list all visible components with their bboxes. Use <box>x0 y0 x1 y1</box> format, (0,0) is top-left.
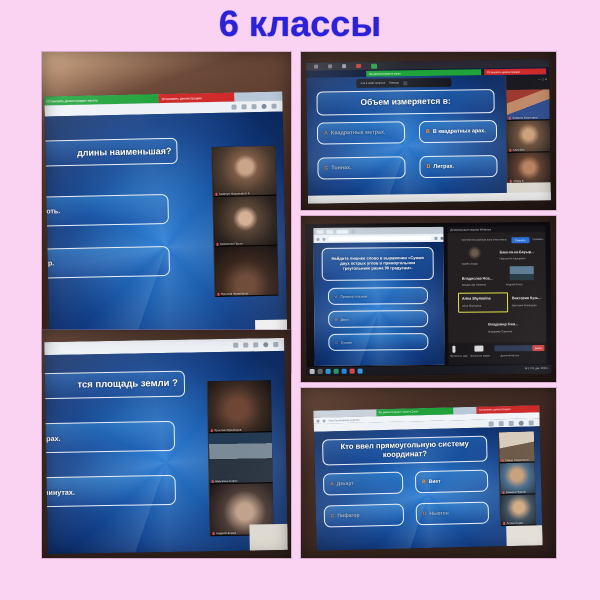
leave-meeting-button[interactable]: Выйти <box>532 345 544 351</box>
profile-icon[interactable] <box>440 236 443 239</box>
quiz-answer-b[interactable]: B В квадратных арах. <box>419 120 497 143</box>
quiz-question: тся площадь земли ? <box>44 371 185 400</box>
screen-corner-panel <box>249 524 287 551</box>
microphone-icon <box>502 459 504 462</box>
share-icon[interactable] <box>233 343 238 348</box>
star-icon[interactable] <box>499 421 504 426</box>
browser-tab[interactable] <box>316 229 323 233</box>
photo-top-left: Остановить демонстрацию экрана Остановит… <box>42 52 291 372</box>
camera-icon[interactable] <box>474 346 483 352</box>
participant-tile[interactable]: Самигул Нышанова К.К. <box>212 146 276 197</box>
participant-name: Ярослав Жумабаров <box>217 291 248 296</box>
participant-video-strip[interactable]: — □ ✕ Жамиля Бекетовна Алия Бек <box>505 75 551 184</box>
microphone-icon <box>213 532 215 535</box>
page-title: 6 классы <box>0 2 600 46</box>
quiz-answer-d[interactable]: D Метр. <box>44 246 170 279</box>
chevron-down-icon[interactable] <box>403 81 407 85</box>
answer-text: В арах. <box>44 433 61 442</box>
participant-tile[interactable]: Алия Бек <box>507 121 550 153</box>
answer-letter: C <box>324 165 328 171</box>
telegram-icon[interactable] <box>342 369 347 374</box>
quiz-progress-label: 1 из 4 ответ вопроса <box>360 82 385 85</box>
participant-video <box>212 146 276 196</box>
quiz-question: Объем измеряется в: <box>316 89 494 115</box>
microphone-icon <box>212 481 214 484</box>
zoom-window-titlebar: — □ ✕ <box>506 75 549 90</box>
microphone-icon <box>509 149 511 152</box>
search-icon[interactable] <box>318 369 323 374</box>
answer-text: Локоть. <box>44 208 60 216</box>
answer-text: Квадратных метрах. <box>331 130 386 137</box>
panel-titlebar: Демонстрация экрана Windows <box>447 226 545 233</box>
microphone-icon <box>216 243 218 246</box>
browser-tab[interactable] <box>453 407 476 415</box>
collections-icon[interactable] <box>251 104 256 109</box>
photo-bottom-left: тся площадь земли ? B В арах. D В минута… <box>42 330 291 558</box>
participant-name: Владимир Сим... <box>488 322 518 326</box>
answer-text: Двух <box>341 317 349 321</box>
participant-tile[interactable]: Айару К. <box>507 152 550 184</box>
participant-name: Тимур Абдрахман <box>502 458 529 463</box>
app-icon[interactable] <box>328 64 332 68</box>
quiz-answer-b[interactable]: B Виет <box>415 470 489 494</box>
accept-button[interactable]: Принять <box>511 237 529 243</box>
participant-video-strip[interactable]: Самигул Нышанова К.К. Хамзатхан Пусан Яр… <box>211 146 278 297</box>
quiz-answer-c[interactable]: C Пифагор <box>324 504 405 528</box>
help-button[interactable]: Помощь <box>389 81 399 84</box>
answer-text: В минутах. <box>44 487 75 497</box>
quiz-answer-d[interactable]: D Литрах. <box>419 155 497 178</box>
answer-text: Литрах. <box>433 164 454 170</box>
profile-icon[interactable] <box>519 420 524 425</box>
participant-name: Виктория Кузь... <box>512 296 541 300</box>
participant-tile[interactable]: Камила Нурлан <box>500 463 536 495</box>
photo-bottom-right: Вы демонстрируете экран в Zoom Остановит… <box>301 388 556 558</box>
edge-icon[interactable] <box>326 369 331 374</box>
participant-subname: Arina Shymarina <box>462 305 481 308</box>
quiz-answer-b[interactable]: B Локоть. <box>44 194 169 227</box>
quiz-answer-d[interactable]: D В минутах. <box>44 475 176 508</box>
participant-tile[interactable]: Ярослав Жумабаров <box>208 380 272 433</box>
share-icon[interactable] <box>231 104 236 109</box>
share-icon[interactable] <box>489 421 494 426</box>
address-bar[interactable] <box>328 236 431 241</box>
participant-name: Аслан Серик <box>503 521 523 525</box>
answer-letter: A <box>330 481 334 487</box>
participant-name: Владислав Нов... <box>462 276 493 280</box>
participant-name: Самигул Нышанова К.К. <box>215 191 250 196</box>
more-label: Дополнительно <box>500 354 519 357</box>
participant-subname: Виктория Кузнецова <box>512 304 537 307</box>
quiz-answer-a[interactable]: A Квадратных метрах. <box>317 121 405 144</box>
answer-text: Декарт <box>337 481 354 487</box>
participant-tile[interactable]: Ярослав Жумабаров <box>214 246 278 297</box>
photo-middle-right: Найдите лишнее слово в выражении «Сумма … <box>301 216 556 382</box>
show-button[interactable]: Показать <box>532 238 543 241</box>
quiz-answer-c[interactable]: C Сумма <box>328 333 428 351</box>
participant-video-strip[interactable]: Тимур Абдрахман Камила Нурлан Аслан Сери… <box>498 431 536 526</box>
quiz-answer-a[interactable]: A Декарт <box>323 472 404 496</box>
microphone-icon <box>211 429 213 432</box>
app-icon[interactable] <box>342 64 346 68</box>
screen-corner-panel <box>506 525 542 546</box>
participant-name: Ярослав Жумабаров <box>211 427 242 432</box>
profile-icon[interactable] <box>263 342 268 347</box>
answer-text: Прямоугольном <box>340 294 367 298</box>
participant-subname: Нурсултан Бауыржан <box>500 257 526 260</box>
participant-subname: Владислав Новиков <box>462 283 486 286</box>
answer-letter: B <box>335 317 337 321</box>
answer-text: Виет <box>429 479 441 485</box>
profile-icon[interactable] <box>261 104 266 109</box>
participant-video-strip[interactable]: Ярослав Жумабаров Шмучкина Софья Андрей … <box>207 380 274 536</box>
star-icon[interactable] <box>243 343 248 348</box>
start-icon[interactable] <box>310 369 315 374</box>
menu-icon[interactable] <box>273 342 278 347</box>
quiz-question: Найдите лишнее слово в выражении «Сумма … <box>322 247 434 281</box>
quiz-question: Кто ввел прямоугольную систему координат… <box>322 436 488 466</box>
taskbar-clock: 14:17 01 дек. 2020 г. <box>524 367 548 370</box>
opera-icon[interactable] <box>350 369 355 374</box>
laptop-screen-bottom-right: Вы демонстрируете экран в Zoom Остановит… <box>313 405 542 550</box>
participant-video <box>213 196 277 246</box>
participant-name: Камила Нурлан <box>502 489 526 494</box>
microphone-icon[interactable] <box>452 346 455 353</box>
laptop-screen-bottom-left: тся площадь земли ? B В арах. D В минута… <box>44 338 288 554</box>
answer-text: Пифагор <box>337 513 359 520</box>
answer-text: Тоннах. <box>331 165 351 171</box>
screen-share-icon[interactable] <box>371 63 377 68</box>
participant-subname: Андрей Котов <box>506 283 523 286</box>
participant-video <box>209 432 273 484</box>
participant-subname: Владимир Симонов <box>488 330 512 333</box>
answer-letter: B <box>422 479 426 485</box>
browser-tab-active[interactable] <box>336 229 348 233</box>
answer-letter: A <box>324 130 328 136</box>
star-icon[interactable] <box>241 104 246 109</box>
quiz-slide-middle-right: Найдите лишнее слово в выражении «Сумма … <box>314 242 445 366</box>
participant-tile[interactable]: Тимур Абдрахман <box>499 431 535 463</box>
microphone-icon <box>217 293 219 296</box>
microphone-icon <box>215 193 217 196</box>
participant-thumbnail[interactable] <box>510 266 534 280</box>
zoom-icon[interactable] <box>358 369 363 374</box>
microphone-icon <box>503 522 505 525</box>
participant-tile[interactable]: Жамиля Бекетовна <box>506 89 549 121</box>
quiz-answer-d[interactable]: D Ньютон <box>416 502 490 526</box>
answer-letter: B <box>426 129 430 135</box>
participant-name: Баке-ка-ка-Бауыр... <box>500 250 534 254</box>
more-options-button[interactable] <box>494 345 534 351</box>
back-icon[interactable] <box>316 237 319 240</box>
back-icon[interactable] <box>317 419 320 422</box>
microphone-icon <box>509 117 511 120</box>
participant-tile[interactable]: Шмучкина Софья <box>209 432 273 485</box>
answer-letter: C <box>335 340 337 344</box>
menu-icon[interactable] <box>529 420 534 425</box>
participant-name-highlighted: Arina Shymarina <box>462 296 491 300</box>
quiz-question: длины наименьшая? <box>44 138 177 168</box>
participant-name: Семён Ануар <box>462 263 478 266</box>
participant-name: Шмучкина Софья <box>212 479 238 483</box>
mute-label: Включить звук <box>450 355 467 358</box>
laptop-screen-middle-right: Найдите лишнее слово в выражении «Сумма … <box>305 222 551 376</box>
answer-letter: C <box>331 513 335 519</box>
quiz-answer-b[interactable]: B В арах. <box>44 421 175 454</box>
participant-tile[interactable]: Аслан Серик <box>500 494 536 526</box>
new-tab-button[interactable] <box>351 229 355 233</box>
browser-window: Найдите лишнее слово в выражении «Сумма … <box>313 227 444 366</box>
reload-icon[interactable] <box>322 237 325 240</box>
star-icon[interactable] <box>434 236 437 239</box>
participant-tile[interactable]: Хамзатхан Пусан <box>213 196 277 247</box>
notification-badge[interactable] <box>356 64 361 68</box>
participant-video <box>214 246 278 296</box>
zoom-participants-panel[interactable]: Демонстрация экрана Windows Причем без р… <box>447 226 546 365</box>
reload-icon[interactable] <box>323 419 326 422</box>
answer-text: Сумма <box>341 340 352 344</box>
poster-canvas: 6 классы Остановить демонстрацию экрана … <box>0 0 600 600</box>
quiz-toolbar[interactable]: 1 из 4 ответ вопроса Помощь <box>356 78 451 88</box>
browser-tab[interactable] <box>326 229 333 233</box>
app-icon[interactable] <box>314 65 318 69</box>
explorer-icon[interactable] <box>334 369 339 374</box>
panel-title: Демонстрация экрана Windows <box>450 227 491 231</box>
active-speaker-highlight <box>458 292 508 312</box>
panel-search-hint: Причем без разбора всех участников <box>461 238 506 241</box>
video-label: Включить видео <box>470 354 490 357</box>
window-controls[interactable]: — □ ✕ <box>538 77 547 81</box>
participant-name: Жамиля Бекетовна <box>509 116 538 120</box>
quiz-slide-top-right: 1 из 4 ответ вопроса Помощь Объем измеря… <box>306 75 507 204</box>
quiz-answer-c[interactable]: C Тоннах. <box>317 156 405 179</box>
menu-icon[interactable] <box>271 104 276 109</box>
laptop-screen-top-right: Вы демонстрируете экран Остановить демон… <box>306 59 551 203</box>
quiz-answer-a[interactable]: A Прямоугольном <box>328 287 428 305</box>
answer-letter: A <box>335 294 337 298</box>
quiz-answer-b[interactable]: B Двух <box>328 310 428 328</box>
participant-name: Андрей Нечаев <box>212 531 236 535</box>
collections-icon[interactable] <box>509 420 514 425</box>
photo-top-right: Вы демонстрируете экран Остановить демон… <box>301 52 556 210</box>
answer-text: Ньютон <box>429 511 448 517</box>
participant-video <box>208 380 272 432</box>
laptop-screen-top-left: Остановить демонстрацию экрана Остановит… <box>44 92 287 359</box>
address-bar[interactable]: https://learningapps.org/1234 <box>329 418 360 422</box>
meeting-controls-bar[interactable]: Включить звук Включить видео Дополнитель… <box>448 342 546 365</box>
microphone-icon <box>502 491 504 494</box>
answer-letter: D <box>426 164 430 170</box>
participant-name: Хамзатхан Пусан <box>216 241 242 246</box>
participant-thumbnail[interactable] <box>467 247 483 261</box>
answer-text: В квадратных арах. <box>433 128 486 135</box>
answer-letter: D <box>423 511 427 517</box>
collections-icon[interactable] <box>253 342 258 347</box>
participant-name: Алия Бек <box>509 147 525 151</box>
